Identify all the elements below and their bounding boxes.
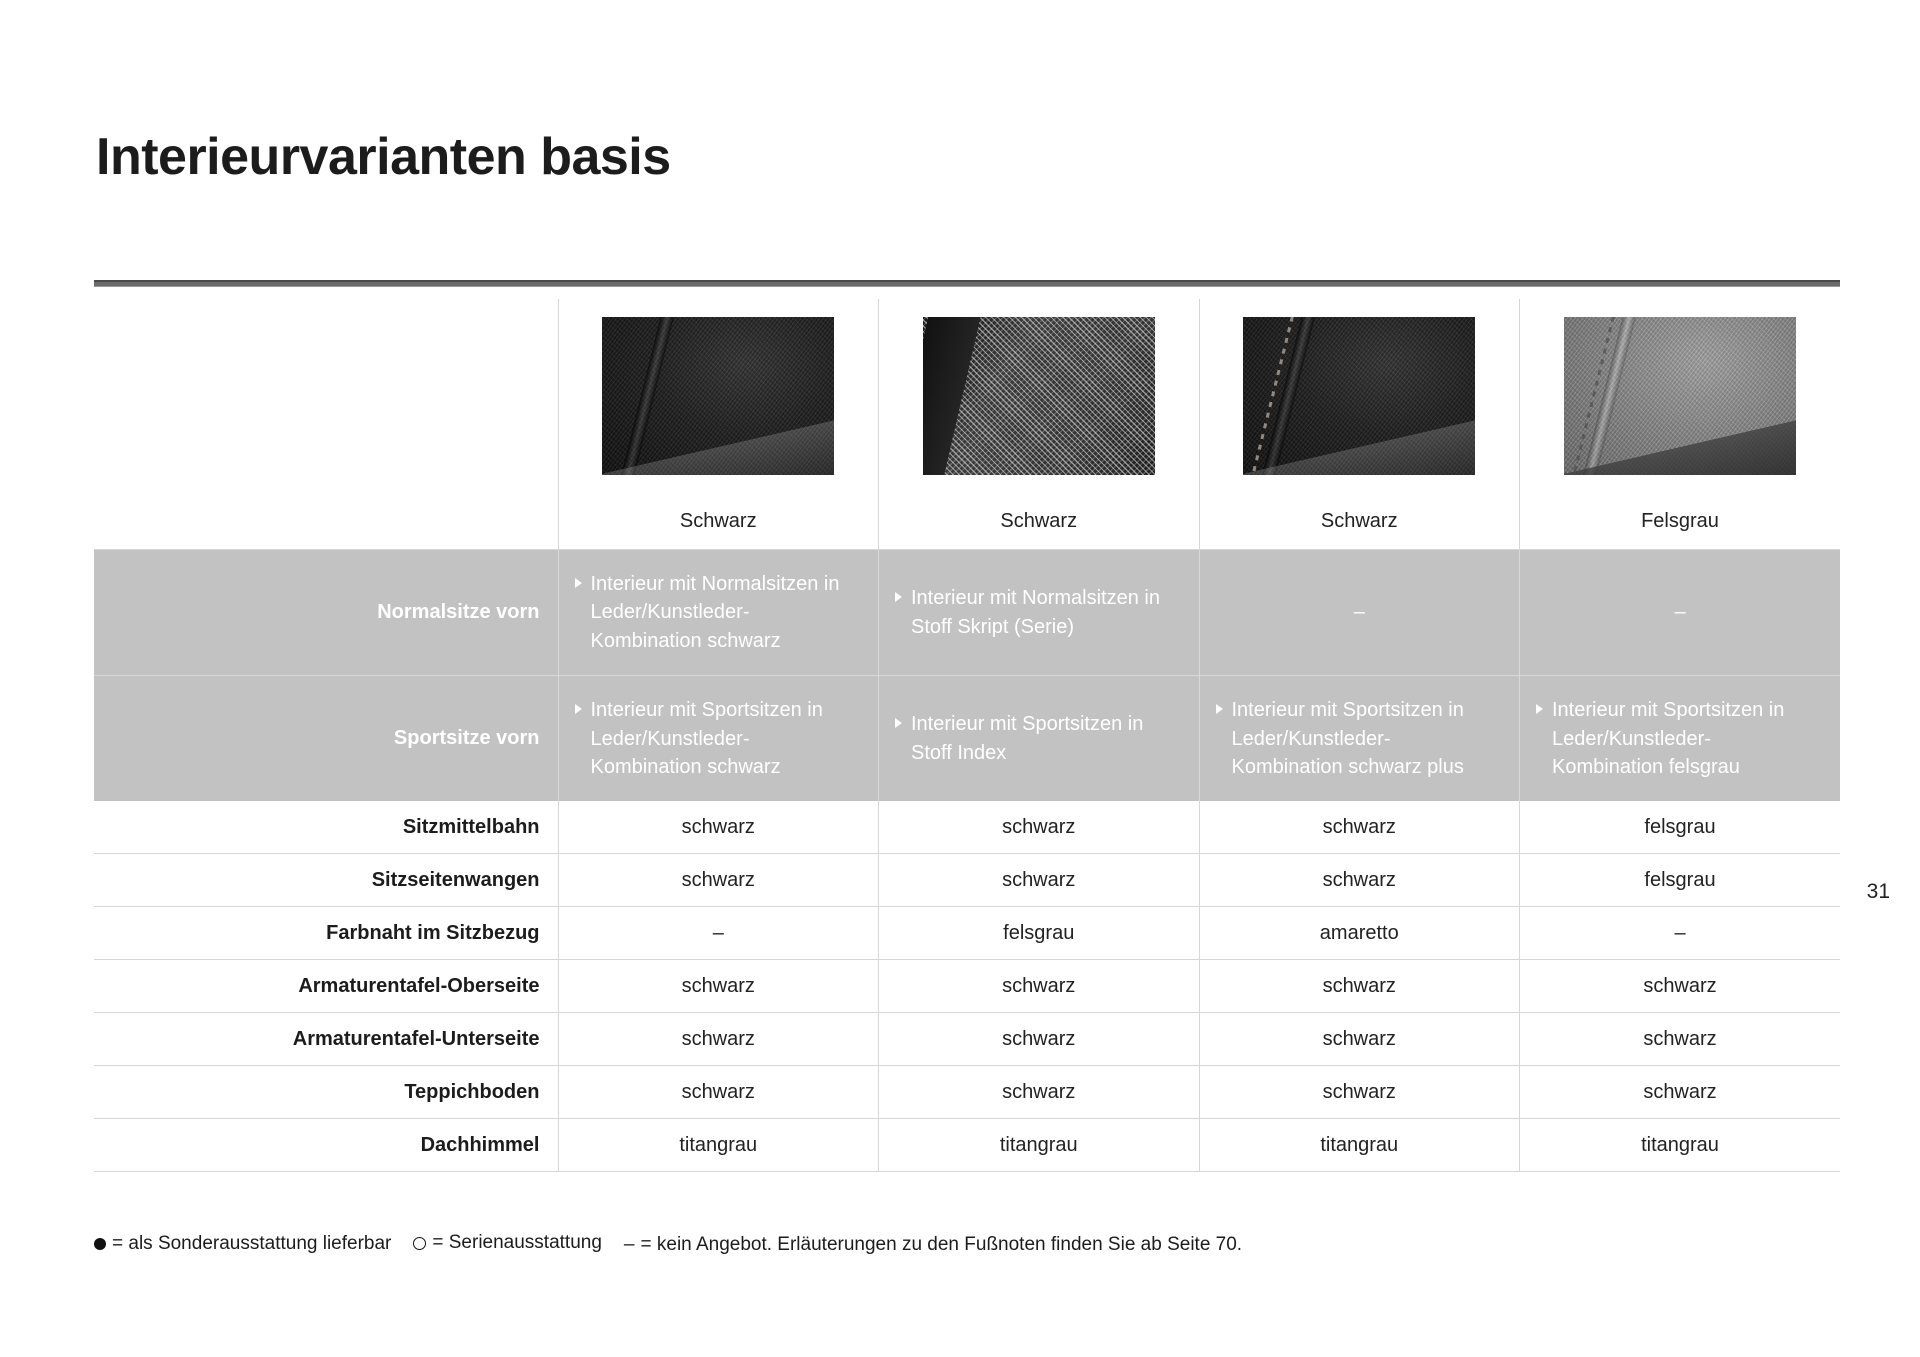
row-value-cell-2: schwarz [879, 801, 1200, 854]
row-value-cell-4: schwarz [1520, 1066, 1841, 1119]
page-number: 31 [1867, 880, 1890, 904]
color-name-row-spacer [94, 493, 558, 550]
row-label: Sitzmittelbahn [94, 801, 558, 853]
row-value-cell-2: schwarz [879, 1066, 1200, 1119]
color-name-1: Schwarz [559, 493, 879, 549]
row-value: schwarz [559, 854, 879, 906]
row-value: – [559, 907, 879, 959]
row-value: schwarz [1200, 1013, 1520, 1065]
table-row: Sitzseitenwangen schwarz schwarz schwarz… [94, 854, 1840, 907]
feature-item: Interieur mit Sportsitzen in Leder/Kunst… [1520, 676, 1840, 801]
feature-item-text: Interieur mit Sportsitzen in Stoff Index [911, 710, 1181, 767]
color-name-2: Schwarz [879, 493, 1199, 549]
table-row: Dachhimmel titangrau titangrau titangrau… [94, 1119, 1840, 1172]
row-label-cell: Sitzmittelbahn [94, 801, 558, 854]
table-row: Farbnaht im Sitzbezug – felsgrau amarett… [94, 907, 1840, 960]
row-label-cell: Teppichboden [94, 1066, 558, 1119]
row-value-cell-4: – [1520, 907, 1841, 960]
row-value: – [1520, 907, 1840, 959]
legend-standard: = Serienausstattung [413, 1232, 602, 1254]
table-row: Armaturentafel-Oberseite schwarz schwarz… [94, 960, 1840, 1013]
row-value-cell-4: titangrau [1520, 1119, 1841, 1172]
row-value: amaretto [1200, 907, 1520, 959]
feature-cell-2: Interieur mit Normalsitzen in Stoff Skri… [879, 550, 1200, 676]
row-label: Dachhimmel [94, 1119, 558, 1171]
color-name-cell-1: Schwarz [558, 493, 879, 550]
leather-black-swatch [602, 317, 834, 475]
row-value: schwarz [559, 1013, 879, 1065]
feature-cell-3: – [1199, 550, 1520, 676]
row-label-cell: Farbnaht im Sitzbezug [94, 907, 558, 960]
row-value-cell-1: schwarz [558, 1013, 879, 1066]
row-value: felsgrau [1520, 801, 1840, 853]
swatch-cell-4 [1520, 299, 1841, 493]
row-value-cell-4: felsgrau [1520, 854, 1841, 907]
feature-row-label: Normalsitze vorn [94, 580, 558, 645]
row-value-cell-1: schwarz [558, 960, 879, 1013]
feature-item-text: Interieur mit Normalsitzen in Stoff Skri… [911, 584, 1181, 641]
feature-item: Interieur mit Normalsitzen in Stoff Skri… [879, 564, 1199, 661]
color-name-row: Schwarz Schwarz Schwarz Felsgrau [94, 493, 1840, 550]
interior-variants-table: Schwarz Schwarz Schwarz Felsgrau Nor [94, 299, 1840, 1172]
row-value-cell-1: – [558, 907, 879, 960]
row-value: schwarz [1520, 1066, 1840, 1118]
feature-row-label-cell: Sportsitze vorn [94, 676, 558, 802]
row-value-cell-3: schwarz [1199, 960, 1520, 1013]
feature-cell-1: Interieur mit Normalsitzen in Leder/Kuns… [558, 550, 879, 676]
row-value: schwarz [879, 854, 1199, 906]
swatch-cell-3 [1199, 299, 1520, 493]
row-value-cell-2: schwarz [879, 1013, 1200, 1066]
row-value-cell-2: schwarz [879, 960, 1200, 1013]
feature-cell-4: Interieur mit Sportsitzen in Leder/Kunst… [1520, 676, 1841, 802]
row-value: felsgrau [1520, 854, 1840, 906]
row-label-cell: Armaturentafel-Unterseite [94, 1013, 558, 1066]
row-value: schwarz [879, 1066, 1199, 1118]
row-value: titangrau [1520, 1119, 1840, 1171]
row-label: Teppichboden [94, 1066, 558, 1118]
row-value: schwarz [1200, 1066, 1520, 1118]
triangle-bullet-icon [575, 704, 582, 714]
feature-cell-2: Interieur mit Sportsitzen in Stoff Index [879, 676, 1200, 802]
triangle-bullet-icon [1536, 704, 1543, 714]
document-page: Interieurvarianten basis 31 [0, 0, 1920, 1357]
row-value: schwarz [559, 801, 879, 853]
row-value-cell-4: felsgrau [1520, 801, 1841, 854]
row-value: schwarz [879, 1013, 1199, 1065]
row-label: Farbnaht im Sitzbezug [94, 907, 558, 959]
row-value-cell-1: schwarz [558, 801, 879, 854]
feature-item: Interieur mit Sportsitzen in Stoff Index [879, 690, 1199, 787]
fabric-black-swatch [923, 317, 1155, 475]
legend-standard-text: = Serienausstattung [432, 1232, 602, 1254]
row-label-cell: Sitzseitenwangen [94, 854, 558, 907]
color-name-4: Felsgrau [1520, 493, 1840, 549]
row-value-cell-4: schwarz [1520, 960, 1841, 1013]
color-name-cell-4: Felsgrau [1520, 493, 1841, 550]
row-label-cell: Armaturentafel-Oberseite [94, 960, 558, 1013]
row-value-cell-3: titangrau [1199, 1119, 1520, 1172]
triangle-bullet-icon [575, 578, 582, 588]
row-label-cell: Dachhimmel [94, 1119, 558, 1172]
feature-cell-3: Interieur mit Sportsitzen in Leder/Kunst… [1199, 676, 1520, 802]
row-value: titangrau [559, 1119, 879, 1171]
row-value-cell-3: schwarz [1199, 801, 1520, 854]
feature-row-normalsitze: Normalsitze vorn Interieur mit Normalsit… [94, 550, 1840, 676]
legend-optional: = als Sonderausstattung lieferbar [94, 1233, 391, 1255]
row-value: schwarz [1520, 960, 1840, 1012]
swatch-row-spacer [94, 299, 558, 493]
row-value: schwarz [1520, 1013, 1840, 1065]
feature-cell-4: – [1520, 550, 1841, 676]
feature-row-label-cell: Normalsitze vorn [94, 550, 558, 676]
table-top-rule [94, 280, 1840, 287]
feature-cell-1: Interieur mit Sportsitzen in Leder/Kunst… [558, 676, 879, 802]
row-value-cell-3: schwarz [1199, 1066, 1520, 1119]
legend-optional-text: = als Sonderausstattung lieferbar [112, 1233, 391, 1255]
open-circle-icon [413, 1237, 426, 1250]
table-row: Armaturentafel-Unterseite schwarz schwar… [94, 1013, 1840, 1066]
row-value-cell-1: schwarz [558, 1066, 879, 1119]
filled-circle-icon [94, 1238, 106, 1250]
leather-grey-swatch [1564, 317, 1796, 475]
legend-footnote: = als Sonderausstattung lieferbar = Seri… [94, 1232, 1242, 1256]
legend-unavailable: – = kein Angebot. Erläuterungen zu den F… [624, 1234, 1242, 1256]
spec-table-container: Schwarz Schwarz Schwarz Felsgrau Nor [94, 280, 1840, 1172]
page-title: Interieurvarianten basis [96, 127, 671, 187]
swatch-cell-1 [558, 299, 879, 493]
color-name-3: Schwarz [1200, 493, 1520, 549]
row-value: titangrau [879, 1119, 1199, 1171]
row-value: schwarz [1200, 854, 1520, 906]
feature-item-text: Interieur mit Sportsitzen in Leder/Kunst… [1552, 696, 1822, 781]
row-value-cell-1: titangrau [558, 1119, 879, 1172]
feature-row-sportsitze: Sportsitze vorn Interieur mit Sportsitze… [94, 676, 1840, 802]
color-name-cell-3: Schwarz [1199, 493, 1520, 550]
feature-row-label: Sportsitze vorn [94, 706, 558, 771]
row-value-cell-2: felsgrau [879, 907, 1200, 960]
swatch-row [94, 299, 1840, 493]
row-value-cell-3: schwarz [1199, 1013, 1520, 1066]
row-value: schwarz [1200, 960, 1520, 1012]
row-value-cell-3: amaretto [1199, 907, 1520, 960]
row-value-cell-4: schwarz [1520, 1013, 1841, 1066]
table-row: Sitzmittelbahn schwarz schwarz schwarz f… [94, 801, 1840, 854]
feature-item-text: Interieur mit Normalsitzen in Leder/Kuns… [591, 570, 861, 655]
row-label: Armaturentafel-Unterseite [94, 1013, 558, 1065]
feature-item: Interieur mit Normalsitzen in Leder/Kuns… [559, 550, 879, 675]
legend-unavailable-text: = kein Angebot. Erläuterungen zu den Fuß… [641, 1234, 1243, 1256]
row-value: schwarz [879, 960, 1199, 1012]
row-value-cell-2: schwarz [879, 854, 1200, 907]
feature-item-text: Interieur mit Sportsitzen in Leder/Kunst… [1232, 696, 1502, 781]
row-value-cell-2: titangrau [879, 1119, 1200, 1172]
triangle-bullet-icon [895, 592, 902, 602]
feature-item-empty: – [1520, 581, 1840, 644]
row-value: schwarz [1200, 801, 1520, 853]
triangle-bullet-icon [895, 718, 902, 728]
dash-icon: – [624, 1234, 635, 1256]
row-value: schwarz [879, 801, 1199, 853]
row-label: Armaturentafel-Oberseite [94, 960, 558, 1012]
feature-item-empty: – [1200, 581, 1520, 644]
row-value: schwarz [559, 1066, 879, 1118]
row-value: schwarz [559, 960, 879, 1012]
feature-item: Interieur mit Sportsitzen in Leder/Kunst… [1200, 676, 1520, 801]
row-value-cell-1: schwarz [558, 854, 879, 907]
row-value: felsgrau [879, 907, 1199, 959]
row-value-cell-3: schwarz [1199, 854, 1520, 907]
feature-item-text: Interieur mit Sportsitzen in Leder/Kunst… [591, 696, 861, 781]
feature-item: Interieur mit Sportsitzen in Leder/Kunst… [559, 676, 879, 801]
table-row: Teppichboden schwarz schwarz schwarz sch… [94, 1066, 1840, 1119]
color-name-cell-2: Schwarz [879, 493, 1200, 550]
triangle-bullet-icon [1216, 704, 1223, 714]
row-value: titangrau [1200, 1119, 1520, 1171]
row-label: Sitzseitenwangen [94, 854, 558, 906]
leather-black-stitched-swatch [1243, 317, 1475, 475]
swatch-cell-2 [879, 299, 1200, 493]
